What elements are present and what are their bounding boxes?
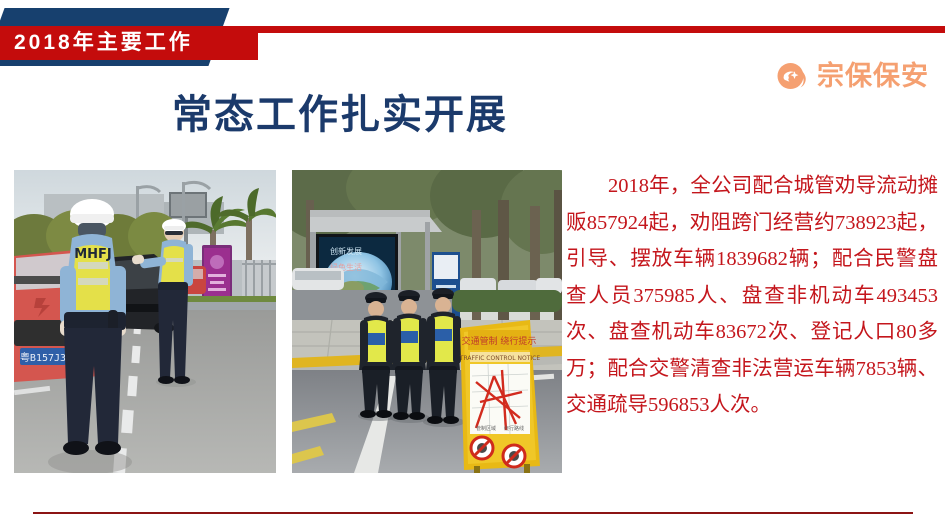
banner-red-shape-fill [198, 26, 258, 60]
svg-text:交通管制 绕行提示: 交通管制 绕行提示 [462, 335, 537, 347]
svg-text:粤B157J3: 粤B157J3 [20, 351, 66, 364]
page-title: 常态工作扎实开展 [0, 82, 680, 140]
svg-text:MHFJ: MHFJ [74, 247, 112, 262]
company-logo-text: 宗保保安 [817, 63, 929, 90]
svg-text:管制区域: 管制区域 [476, 425, 496, 432]
body-paragraph: 2018年，全公司配合城管劝导流动摊贩857924起，劝阻跨门经营约738923… [566, 168, 938, 424]
footer-divider [33, 512, 913, 514]
banner-section-label: 2018年主要工作 [14, 27, 193, 59]
svg-text:绕行路线: 绕行路线 [504, 425, 524, 432]
traffic-police-on-road-photo: 粤B157J3 MHFJ [14, 170, 276, 473]
security-guards-roadside-photo: 创新发展 绿色生活 [292, 170, 562, 473]
swirl-emblem-icon [774, 58, 810, 94]
svg-text:创新发展: 创新发展 [330, 246, 362, 256]
svg-text:TRAFFIC CONTROL NOTICE: TRAFFIC CONTROL NOTICE [459, 355, 541, 362]
company-logo: 宗保保安 [774, 58, 929, 94]
